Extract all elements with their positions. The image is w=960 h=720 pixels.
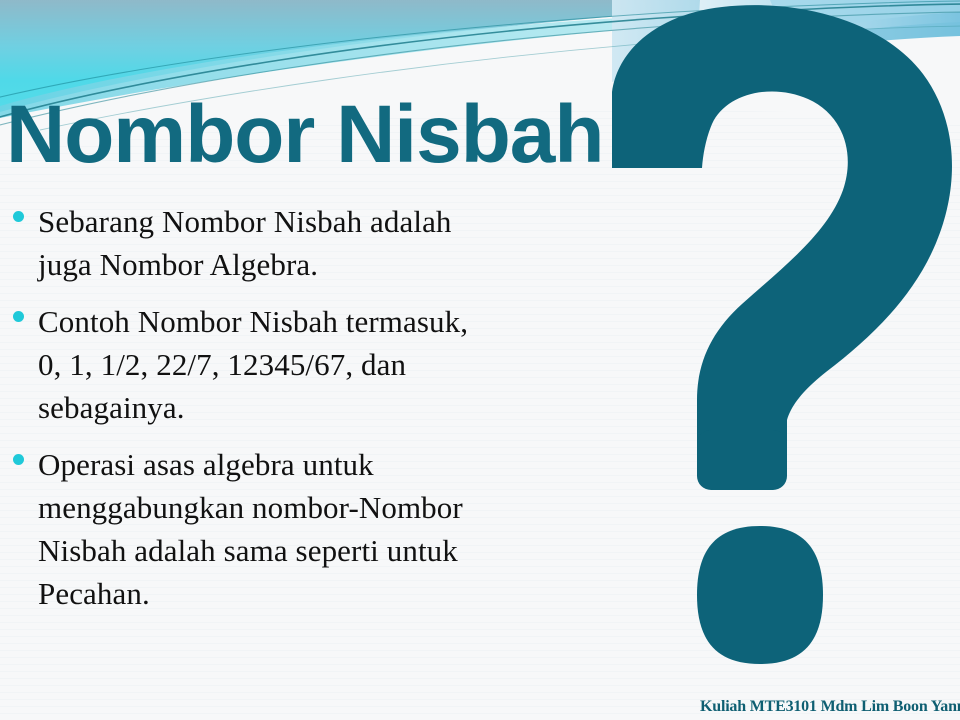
list-item: Operasi asas algebra untuk menggabungkan…	[10, 443, 480, 615]
list-item-text: Contoh Nombor Nisbah termasuk, 0, 1, 1/2…	[38, 300, 480, 429]
bullet-dot-icon	[13, 454, 24, 465]
list-item: Sebarang Nombor Nisbah adalah juga Nombo…	[10, 200, 480, 286]
slide-canvas: Nombor Nisbah Sebarang Nombor Nisbah ada…	[0, 0, 960, 720]
bullet-list: Sebarang Nombor Nisbah adalah juga Nombo…	[10, 200, 480, 629]
list-item: Contoh Nombor Nisbah termasuk, 0, 1, 1/2…	[10, 300, 480, 429]
bullet-dot-icon	[13, 311, 24, 322]
page-title: Nombor Nisbah	[6, 92, 603, 178]
slide-footer-text: Kuliah MTE3101 Mdm Lim Boon Yann	[700, 698, 960, 715]
list-item-text: Sebarang Nombor Nisbah adalah juga Nombo…	[38, 200, 480, 286]
bullet-dot-icon	[13, 211, 24, 222]
slide-footer: Kuliah MTE3101 Mdm Lim Boon Yann	[700, 697, 960, 716]
list-item-text: Operasi asas algebra untuk menggabungkan…	[38, 443, 480, 615]
